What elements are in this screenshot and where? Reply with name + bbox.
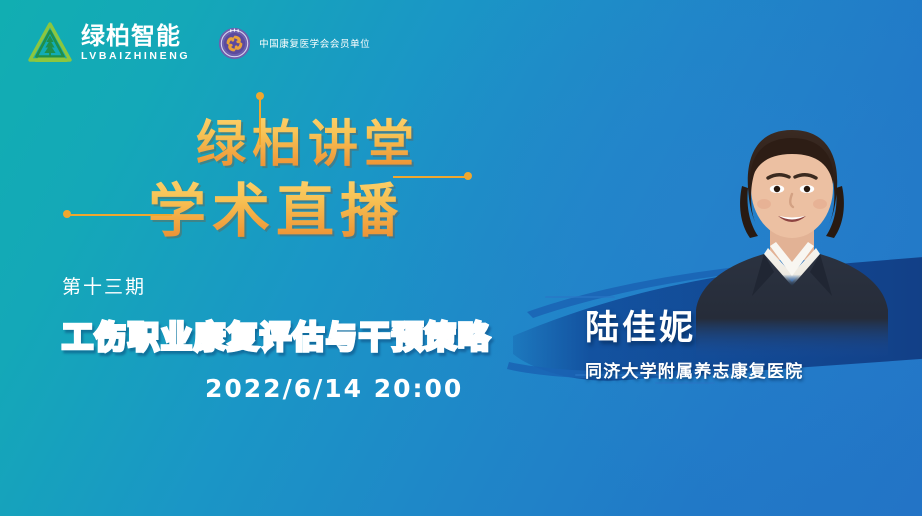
decor-horizontal-line-right: [393, 176, 468, 178]
header-logos: 绿柏智能 LVBAIZHINENG: [28, 22, 370, 64]
brand-name-cn: 绿柏智能: [81, 24, 190, 48]
brand-name-en: LVBAIZHINENG: [81, 51, 190, 62]
session-datetime: 2022/6/14 20:00: [205, 374, 463, 403]
decor-horizontal-line-left: [67, 214, 172, 216]
episode-label: 第十三期: [62, 272, 146, 299]
brand-lockup: 绿柏智能 LVBAIZHINENG: [28, 22, 190, 64]
member-badge: 中国康复医学会会员单位: [218, 27, 370, 60]
member-badge-text: 中国康复医学会会员单位: [259, 36, 370, 50]
association-seal-icon: [218, 27, 251, 60]
session-topic: 工伤职业康复评估与干预策略: [62, 312, 491, 357]
speaker-info: 陆佳妮 同济大学附属养志康复医院: [585, 300, 915, 382]
speaker-organization: 同济大学附属养志康复医院: [585, 357, 915, 382]
speaker-name: 陆佳妮: [585, 300, 915, 349]
decor-vertical-line: [259, 97, 261, 145]
session-topic-text: 工伤职业康复评估与干预策略: [62, 320, 491, 356]
decor-dot-left: [63, 210, 71, 218]
decor-dot-top: [256, 92, 264, 100]
programme-title-line2: 学术直播: [148, 164, 404, 248]
decor-dot-right: [464, 172, 472, 180]
brand-wordmark: 绿柏智能 LVBAIZHINENG: [81, 24, 190, 62]
live-stream-poster: 绿柏智能 LVBAIZHINENG: [0, 0, 922, 519]
triangle-pine-logo-icon: [28, 22, 72, 64]
